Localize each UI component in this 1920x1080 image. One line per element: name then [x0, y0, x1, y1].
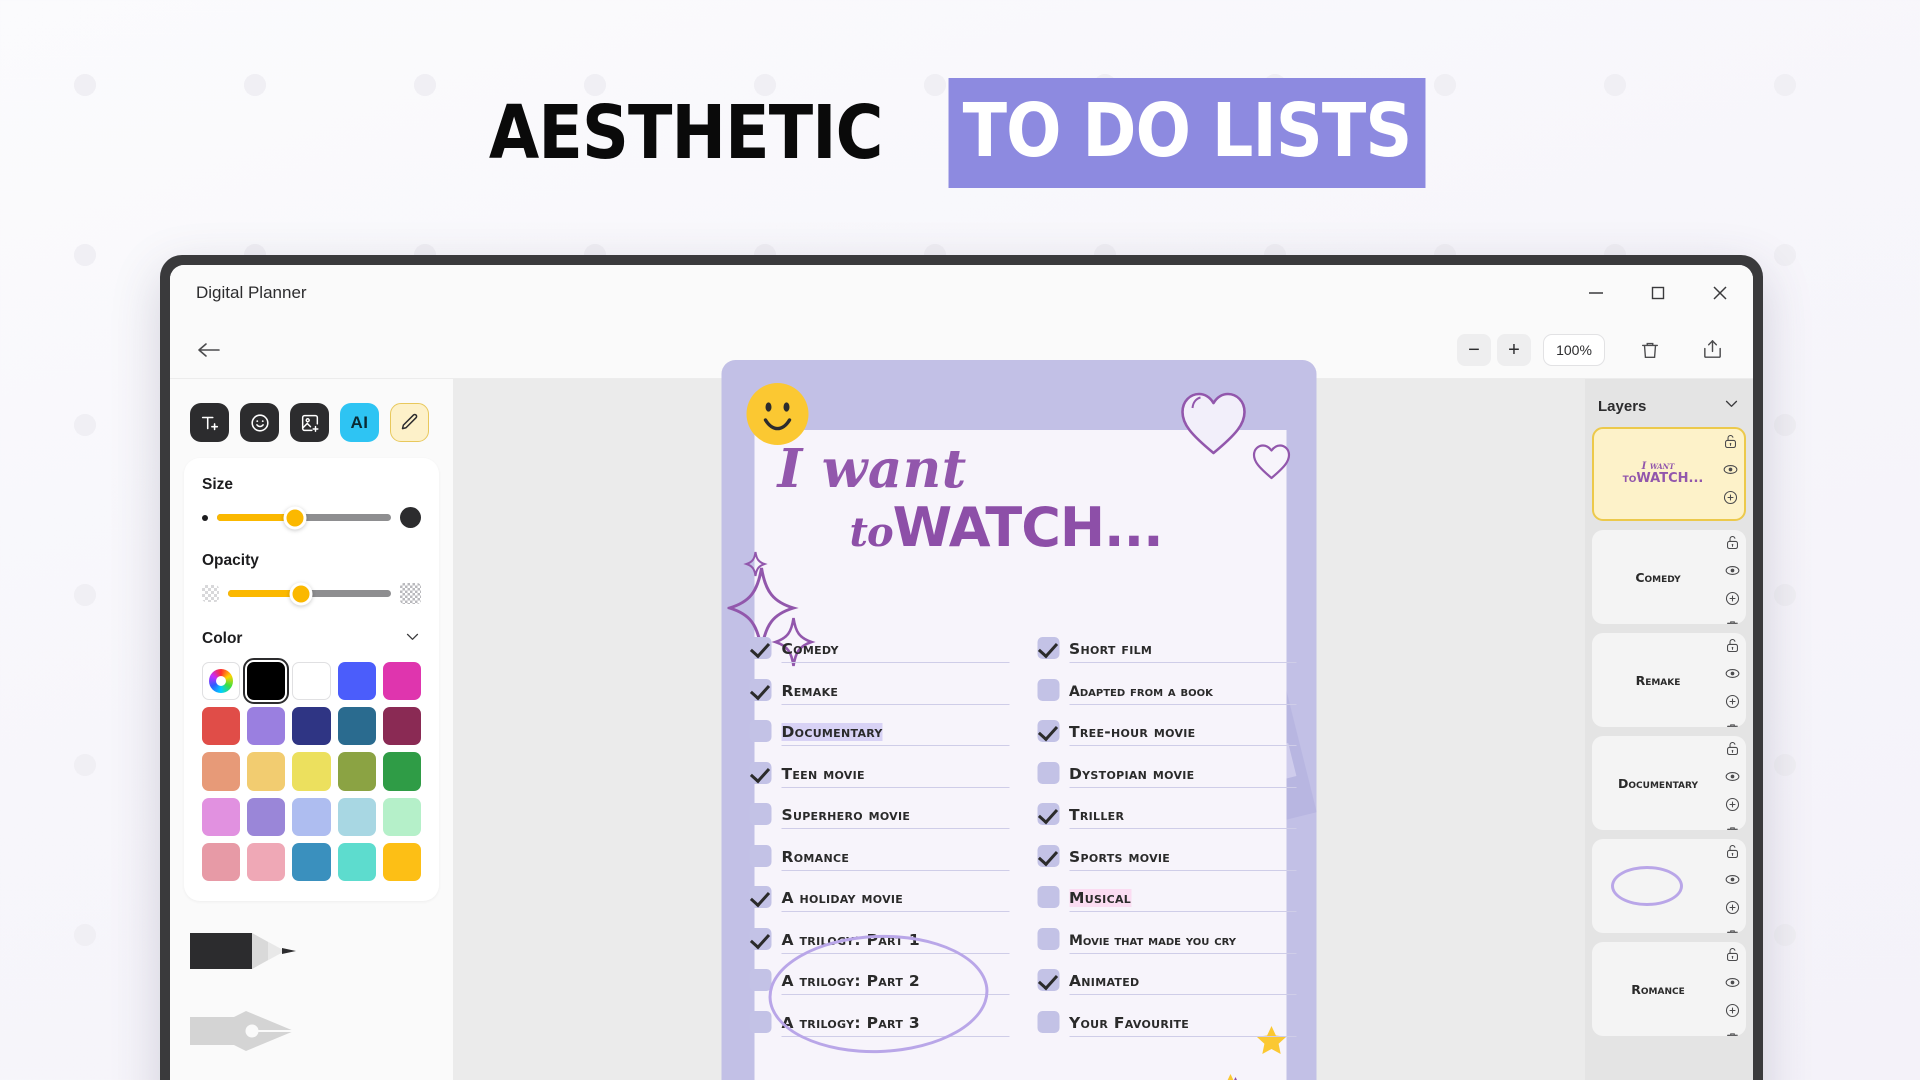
checkbox-unchecked[interactable]	[750, 1011, 772, 1033]
checkbox-unchecked[interactable]	[1037, 886, 1059, 908]
checklist-item-line: Triller	[1069, 807, 1297, 829]
checklist-item[interactable]: Remake	[750, 672, 1010, 705]
unlock-icon[interactable]	[1724, 946, 1741, 968]
opacity-slider[interactable]	[228, 590, 391, 597]
checklist-item-line: Teen movie	[782, 766, 1010, 788]
checkbox-unchecked[interactable]	[1037, 1011, 1059, 1033]
color-swatch[interactable]	[202, 707, 240, 745]
color-label: Color	[202, 630, 242, 648]
color-swatch[interactable]	[292, 798, 330, 836]
checklist-item-label: Tree-hour movie	[1069, 723, 1195, 741]
trash-icon[interactable]	[1724, 824, 1741, 830]
checklist-item-label: Triller	[1069, 806, 1124, 824]
checklist-item[interactable]: Adapted from a book	[1037, 672, 1297, 705]
checklist-item-line: Dystopian movie	[1069, 766, 1297, 788]
opacity-max-checker-icon	[400, 583, 421, 604]
duplicate-icon[interactable]	[1722, 489, 1739, 511]
color-swatch[interactable]	[292, 752, 330, 790]
color-swatch[interactable]	[338, 662, 376, 700]
zoom-in-button[interactable]: +	[1497, 334, 1531, 366]
color-swatch[interactable]	[383, 707, 421, 745]
checklist-item-label: Short film	[1069, 640, 1152, 658]
checklist-item-label: Sports movie	[1069, 848, 1170, 866]
opacity-label: Opacity	[202, 552, 421, 570]
duplicate-icon[interactable]	[1724, 1002, 1741, 1024]
zoom-level-value[interactable]: 100%	[1543, 334, 1605, 366]
checklist-item-line: Animated	[1069, 973, 1297, 995]
checkbox-unchecked[interactable]	[1037, 679, 1059, 701]
checkbox-checked[interactable]	[1037, 720, 1059, 742]
checkbox-unchecked[interactable]	[1037, 928, 1059, 950]
checkbox-checked[interactable]	[1037, 969, 1059, 991]
color-swatch[interactable]	[247, 752, 285, 790]
checkbox-unchecked[interactable]	[750, 803, 772, 825]
color-swatch[interactable]	[202, 843, 240, 881]
size-min-dot-icon	[202, 515, 208, 521]
eye-icon[interactable]	[1722, 461, 1739, 483]
sticker-tool-button[interactable]	[240, 403, 279, 442]
checklist-item[interactable]: Teen movie	[750, 755, 1010, 788]
close-icon[interactable]	[1709, 282, 1731, 304]
todo-list-card[interactable]: I want toWATCH... ComedyRemakeDocumentar…	[722, 360, 1317, 1080]
checklist-item-line: Documentary	[782, 724, 1010, 746]
trash-icon[interactable]	[1724, 721, 1741, 727]
checkbox-unchecked[interactable]	[750, 720, 772, 742]
pen-tool-button[interactable]	[390, 403, 429, 442]
trash-icon[interactable]	[1722, 517, 1739, 521]
eye-icon[interactable]	[1724, 562, 1741, 584]
duplicate-icon[interactable]	[1724, 590, 1741, 612]
zoom-out-button[interactable]: −	[1457, 334, 1491, 366]
color-swatch[interactable]	[292, 843, 330, 881]
checklist-item[interactable]: Movie that made you cry	[1037, 921, 1297, 954]
checklist-item-line: Musical	[1069, 890, 1297, 912]
checklist-item[interactable]: Sports movie	[1037, 838, 1297, 871]
trash-icon[interactable]	[1724, 1030, 1741, 1036]
color-swatch[interactable]	[292, 662, 330, 700]
duplicate-icon[interactable]	[1724, 796, 1741, 818]
layer-item[interactable]: Romance	[1592, 942, 1746, 1036]
color-swatch[interactable]	[247, 662, 285, 700]
checklist-item-line: Comedy	[782, 641, 1010, 663]
layer-thumbnail: Remake	[1636, 673, 1703, 688]
checklist-right-column: Short filmAdapted from a bookTree-hour m…	[1037, 630, 1297, 1045]
eye-icon[interactable]	[1724, 974, 1741, 996]
checklist-item[interactable]: A holiday movie	[750, 879, 1010, 912]
color-swatch-grid	[202, 662, 421, 881]
eye-icon[interactable]	[1724, 768, 1741, 790]
unlock-icon[interactable]	[1724, 843, 1741, 865]
unlock-icon[interactable]	[1724, 637, 1741, 659]
work-area: AI Size Opacity	[170, 379, 1753, 1080]
color-swatch[interactable]	[338, 752, 376, 790]
layer-item[interactable]: Comedy	[1592, 530, 1746, 624]
layer-item[interactable]	[1592, 839, 1746, 933]
chevron-down-icon[interactable]	[404, 628, 421, 650]
unlock-icon[interactable]	[1724, 740, 1741, 762]
color-swatch[interactable]	[383, 662, 421, 700]
layer-controls	[1722, 433, 1739, 521]
card-title-line-2-big: WATCH...	[893, 496, 1163, 559]
layers-title: Layers	[1598, 398, 1646, 415]
checklist-item[interactable]: Musical	[1037, 879, 1297, 912]
checklist-item-line: Adapted from a book	[1069, 683, 1297, 705]
checklist-item-line: A holiday movie	[782, 890, 1010, 912]
checklist-item[interactable]: Triller	[1037, 796, 1297, 829]
checklist-item[interactable]: Animated	[1037, 962, 1297, 995]
checklist-item[interactable]: Documentary	[750, 713, 1010, 746]
pen-nib-preview-icon[interactable]	[190, 1005, 320, 1057]
checklist-item[interactable]: Comedy	[750, 630, 1010, 663]
checklist-item-line: Sports movie	[1069, 849, 1297, 871]
color-swatch[interactable]	[247, 798, 285, 836]
color-swatch[interactable]	[383, 843, 421, 881]
ai-tool-button[interactable]: AI	[340, 403, 379, 442]
checklist-item-label: Dystopian movie	[1069, 765, 1195, 783]
card-title-line-2-small: to	[850, 509, 893, 556]
title-bar: Digital Planner	[170, 265, 1753, 321]
checkbox-unchecked[interactable]	[750, 969, 772, 991]
color-swatch[interactable]	[202, 798, 240, 836]
checklist-item-label: Documentary	[782, 723, 883, 741]
color-swatch[interactable]	[338, 707, 376, 745]
maximize-icon[interactable]	[1647, 282, 1669, 304]
tool-icon-row: AI	[170, 379, 453, 442]
color-swatch[interactable]	[383, 798, 421, 836]
color-section-header[interactable]: Color	[202, 628, 421, 650]
opacity-slider-knob[interactable]	[290, 582, 313, 605]
back-arrow-icon[interactable]	[196, 340, 222, 360]
checklist-item-label: Your Favourite	[1069, 1014, 1189, 1032]
checkbox-unchecked[interactable]	[1037, 762, 1059, 784]
pencil-preview-icon[interactable]	[190, 927, 320, 975]
layer-thumbnail: Documentary	[1618, 776, 1720, 791]
text-tool-button[interactable]	[190, 403, 229, 442]
size-label: Size	[202, 476, 421, 494]
headline-part-2: TO DO LISTS	[948, 78, 1425, 188]
card-title-line-2: toWATCH...	[850, 496, 1277, 559]
checkbox-checked[interactable]	[1037, 637, 1059, 659]
size-max-dot-icon	[400, 507, 421, 528]
checklist-item-label: Teen movie	[782, 765, 865, 783]
layer-thumbnail	[1611, 866, 1727, 906]
delete-canvas-icon[interactable]	[1633, 333, 1667, 367]
checkbox-checked[interactable]	[1037, 803, 1059, 825]
checklist-item[interactable]: Short film	[1037, 630, 1297, 663]
checkbox-unchecked[interactable]	[750, 845, 772, 867]
layer-thumbnail: Romance	[1631, 982, 1706, 997]
headline-part-1: AESTHETIC	[489, 90, 883, 176]
unlock-icon[interactable]	[1722, 433, 1739, 455]
size-slider-knob[interactable]	[284, 506, 307, 529]
checkbox-checked[interactable]	[750, 928, 772, 950]
color-swatch[interactable]	[247, 707, 285, 745]
checklist-item-line: Remake	[782, 683, 1010, 705]
card-title: I want toWATCH...	[778, 438, 1277, 559]
color-swatch[interactable]	[202, 752, 240, 790]
checklist-item-label: Adapted from a book	[1069, 684, 1213, 700]
layer-controls	[1724, 637, 1741, 727]
checklist-item-label: Animated	[1069, 972, 1139, 990]
color-swatch[interactable]	[338, 798, 376, 836]
app-title: Digital Planner	[196, 283, 307, 303]
duplicate-icon[interactable]	[1724, 899, 1741, 921]
checklist-item-label: Comedy	[782, 640, 839, 658]
app-window: Digital Planner − + 100%	[160, 255, 1763, 1080]
layers-panel: Layers I wanttoWATCH...ComedyRemakeDocum…	[1585, 379, 1753, 1080]
eye-icon[interactable]	[1724, 665, 1741, 687]
layers-chevron-down-icon[interactable]	[1723, 395, 1740, 417]
minimize-icon[interactable]	[1585, 282, 1607, 304]
checklist-item-line: Superhero movie	[782, 807, 1010, 829]
layer-thumbnail: I wanttoWATCH...	[1613, 461, 1726, 486]
canvas-area[interactable]: I want toWATCH... ComedyRemakeDocumentar…	[453, 379, 1585, 1080]
checkbox-checked[interactable]	[750, 679, 772, 701]
checklist-item[interactable]: Tree-hour movie	[1037, 713, 1297, 746]
checklist-item-line: Tree-hour movie	[1069, 724, 1297, 746]
checklist-item-line: Movie that made you cry	[1069, 932, 1297, 954]
checklist-item-line: Romance	[782, 849, 1010, 871]
color-swatch[interactable]	[383, 752, 421, 790]
card-title-line-1: I want	[778, 438, 1277, 500]
image-add-tool-button[interactable]	[290, 403, 329, 442]
checklist-item-label: Movie that made you cry	[1069, 933, 1236, 949]
size-slider-row	[202, 507, 421, 528]
unlock-icon[interactable]	[1724, 534, 1741, 556]
color-swatch[interactable]	[247, 843, 285, 881]
checklist-item-label: Romance	[782, 848, 850, 866]
checklist-item-label: Musical	[1069, 889, 1131, 907]
page-headline: AESTHETICTO DO LISTS	[0, 78, 1920, 188]
color-swatch[interactable]	[338, 843, 376, 881]
checkbox-checked[interactable]	[750, 637, 772, 659]
layer-controls	[1724, 740, 1741, 830]
layer-controls	[1724, 534, 1741, 624]
opacity-slider-row	[202, 583, 421, 604]
share-icon[interactable]	[1695, 333, 1729, 367]
color-wheel-icon[interactable]	[202, 662, 240, 700]
layer-item[interactable]: I wanttoWATCH...	[1592, 427, 1746, 521]
checklist-item-line: Short film	[1069, 641, 1297, 663]
layer-controls	[1724, 946, 1741, 1036]
eye-icon[interactable]	[1724, 871, 1741, 893]
tools-sidebar: AI Size Opacity	[170, 379, 453, 1080]
brush-preview-area	[170, 927, 453, 1067]
layer-item[interactable]: Documentary	[1592, 736, 1746, 830]
layer-thumbnail: Comedy	[1635, 570, 1702, 585]
checklist-item[interactable]: Romance	[750, 838, 1010, 871]
opacity-min-checker-icon	[202, 585, 219, 602]
checkbox-checked[interactable]	[1037, 845, 1059, 867]
layer-ellipse-shape	[1611, 866, 1683, 906]
layer-item[interactable]: Remake	[1592, 633, 1746, 727]
checklist-item[interactable]: Dystopian movie	[1037, 755, 1297, 788]
color-swatch[interactable]	[292, 707, 330, 745]
checkbox-checked[interactable]	[750, 886, 772, 908]
checkbox-checked[interactable]	[750, 762, 772, 784]
checklist-item-line: Your Favourite	[1069, 1015, 1297, 1037]
checklist-item[interactable]: Superhero movie	[750, 796, 1010, 829]
size-slider[interactable]	[217, 514, 391, 521]
layer-controls	[1724, 843, 1741, 933]
trash-icon[interactable]	[1724, 927, 1741, 933]
layers-header[interactable]: Layers	[1592, 389, 1746, 427]
checklist-item-label: Superhero movie	[782, 806, 911, 824]
checklist-item-label: A holiday movie	[782, 889, 904, 907]
checklist-item-label: Remake	[782, 682, 839, 700]
duplicate-icon[interactable]	[1724, 693, 1741, 715]
tool-options-card: Size Opacity	[184, 458, 439, 901]
checklist-item[interactable]: Your Favourite	[1037, 1004, 1297, 1037]
trash-icon[interactable]	[1724, 618, 1741, 624]
